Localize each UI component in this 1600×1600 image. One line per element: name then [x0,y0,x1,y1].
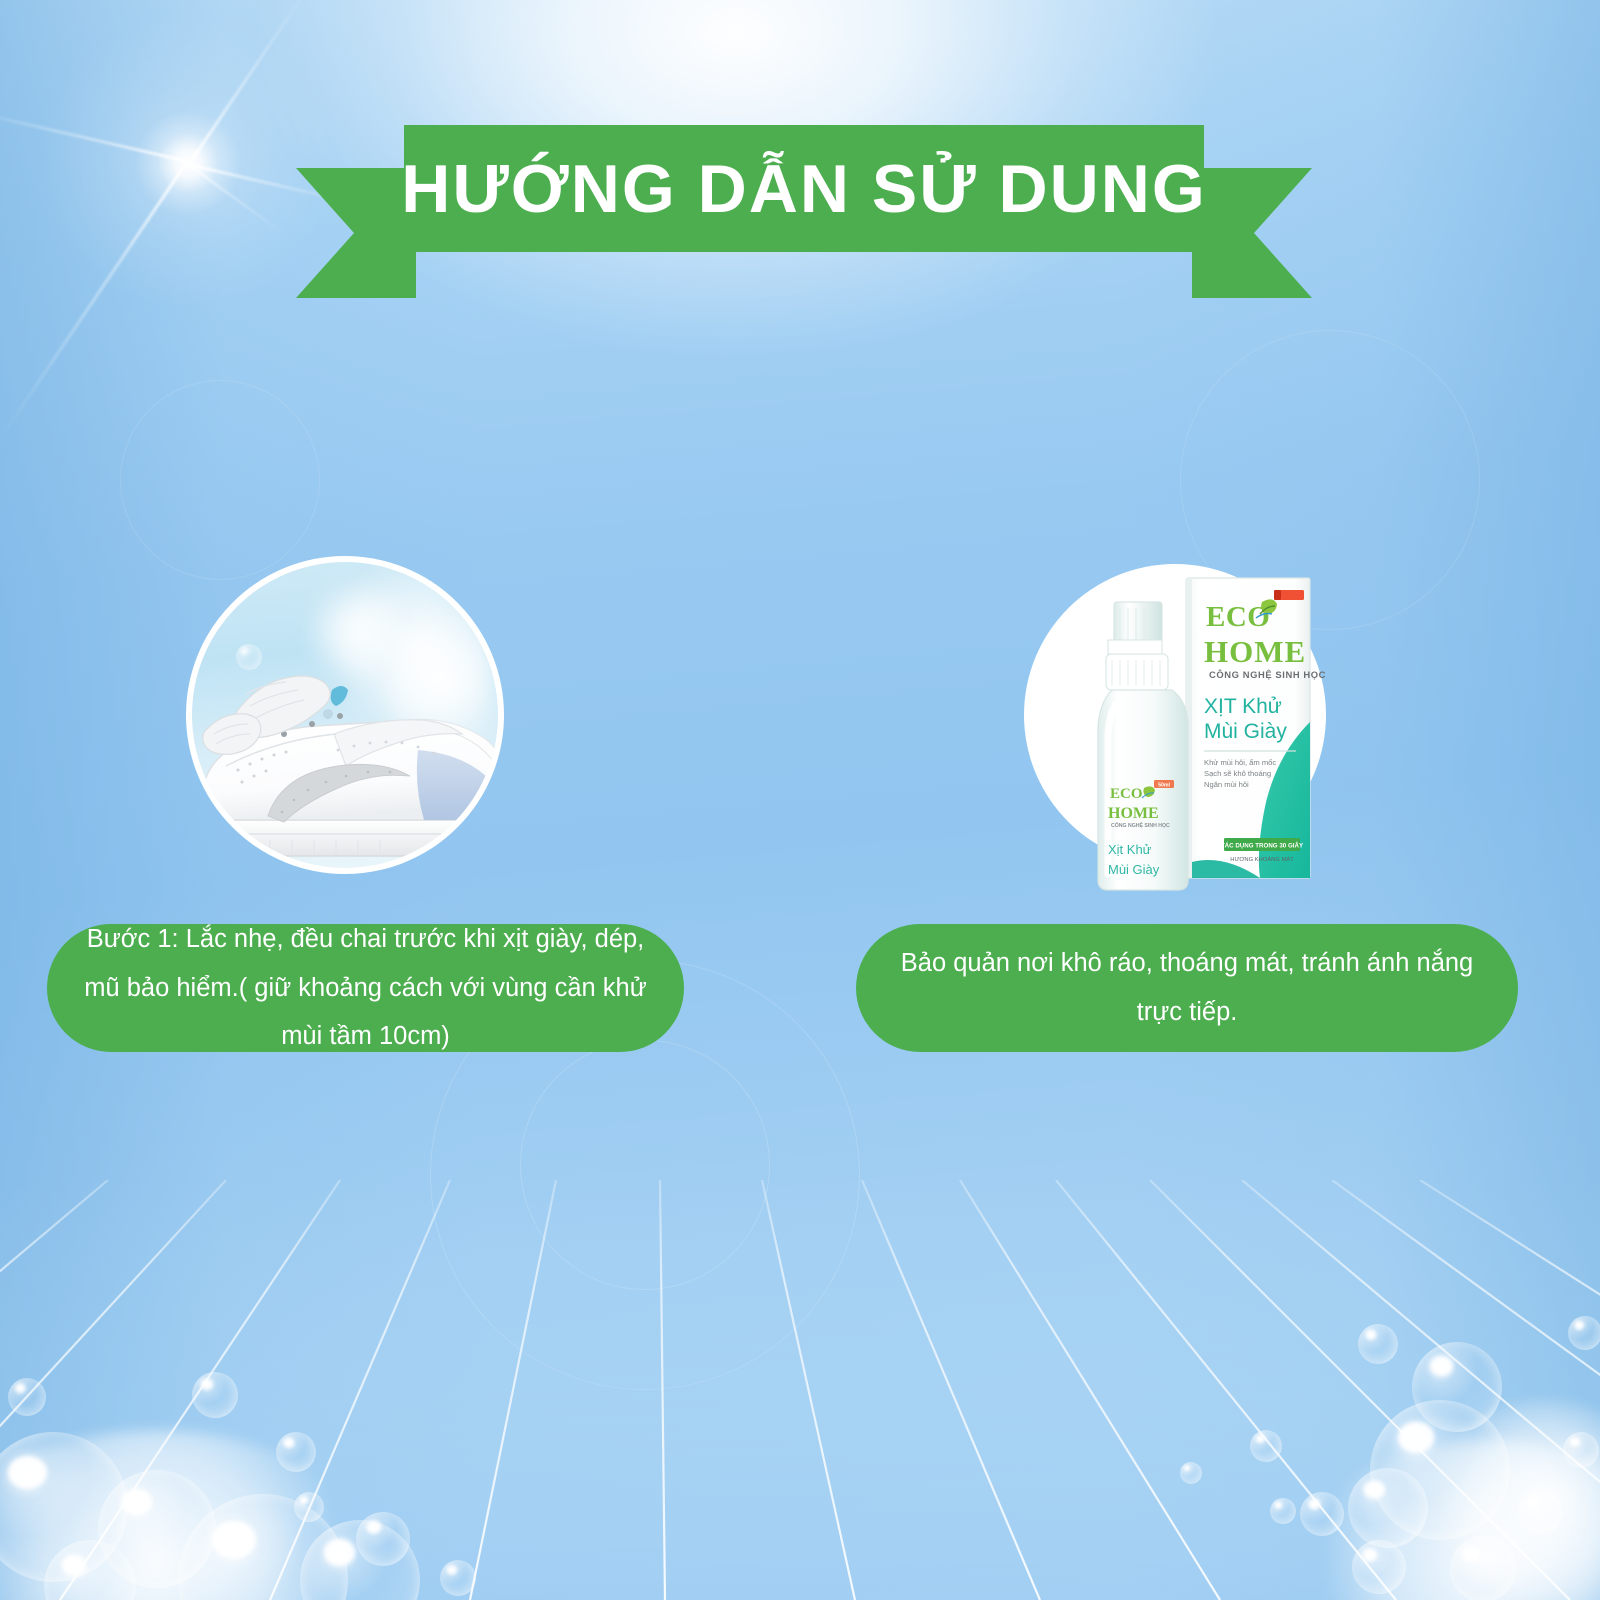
svg-text:Sạch sẽ khô thoáng: Sạch sẽ khô thoáng [1204,769,1271,778]
svg-text:TÁC DỤNG TRONG 30 GIÂY: TÁC DỤNG TRONG 30 GIÂY [1221,843,1304,850]
svg-text:ECO: ECO [1206,601,1270,633]
page-title: HƯỚNG DẪN SỬ DUNG [401,155,1207,223]
bubble [440,1560,476,1596]
bubble [1450,1536,1516,1600]
storage-caption-pill: Bảo quản nơi khô ráo, thoáng mát, tránh … [856,924,1518,1052]
svg-text:50ml: 50ml [1158,782,1170,788]
bubble [1568,1316,1600,1350]
product-illustration: ECO HOME CÔNG NGHỆ SINH HỌC XỊT Khử Mùi … [1038,562,1328,892]
bubble [356,1512,410,1566]
bubble [1180,1462,1202,1484]
svg-text:Mùi Giày: Mùi Giày [1204,720,1287,743]
bubble [1518,1490,1562,1534]
product-bottle: ECO HOME CÔNG NGHỆ SINH HỌC Xịt Khử Mùi … [1098,602,1188,890]
ribbon-tail-right [1192,168,1312,298]
bubble [1358,1324,1398,1364]
bubble [1348,1468,1428,1548]
bubble [1352,1540,1406,1594]
bubble [1300,1492,1344,1536]
bubble [276,1432,316,1472]
svg-text:CÔNG NGHỆ SINH HỌC: CÔNG NGHỆ SINH HỌC [1209,669,1326,680]
bubble [1412,1342,1502,1432]
banner-ribbon-body: HƯỚNG DẪN SỬ DUNG [404,125,1204,252]
bubble [1250,1430,1282,1462]
svg-text:Mùi Giày: Mùi Giày [1108,862,1160,877]
storage-caption-text: Bảo quản nơi khô ráo, thoáng mát, tránh … [856,939,1518,1037]
svg-text:HOME: HOME [1204,634,1306,669]
product-box: ECO HOME CÔNG NGHỆ SINH HỌC XỊT Khử Mùi … [1186,578,1326,878]
step-1-caption-text: Bước 1: Lắc nhẹ, đều chai trước khi xịt … [47,915,684,1062]
svg-text:HƯƠNG KHOÁNG MÁT: HƯƠNG KHOÁNG MÁT [1230,856,1294,863]
step-1-photo [186,556,504,874]
step-1-caption-pill: Bước 1: Lắc nhẹ, đều chai trước khi xịt … [47,924,684,1052]
bubble [1270,1498,1296,1524]
background-glow-circle [120,380,320,580]
ribbon-tail-left [296,168,416,298]
svg-text:Xịt Khử: Xịt Khử [1108,842,1152,857]
bubble [192,1372,238,1418]
banner: HƯỚNG DẪN SỬ DUNG [0,0,1600,330]
svg-text:HOME: HOME [1108,805,1159,822]
sneaker-illustration [186,654,504,874]
svg-text:XỊT Khử: XỊT Khử [1204,695,1282,718]
svg-text:Khử mùi hôi, ẩm mốc: Khử mùi hôi, ẩm mốc [1204,758,1276,767]
corner-badge [1274,590,1304,600]
sneaker-scene [192,562,498,868]
svg-text:ECO: ECO [1110,786,1143,802]
bubble [1563,1432,1599,1468]
poster-canvas: HƯỚNG DẪN SỬ DUNG [0,0,1600,1600]
svg-text:CÔNG NGHỆ SINH HỌC: CÔNG NGHỆ SINH HỌC [1111,821,1170,829]
svg-text:Ngăn mùi hôi: Ngăn mùi hôi [1204,780,1249,789]
bubble [294,1492,324,1522]
bubble [8,1378,46,1416]
